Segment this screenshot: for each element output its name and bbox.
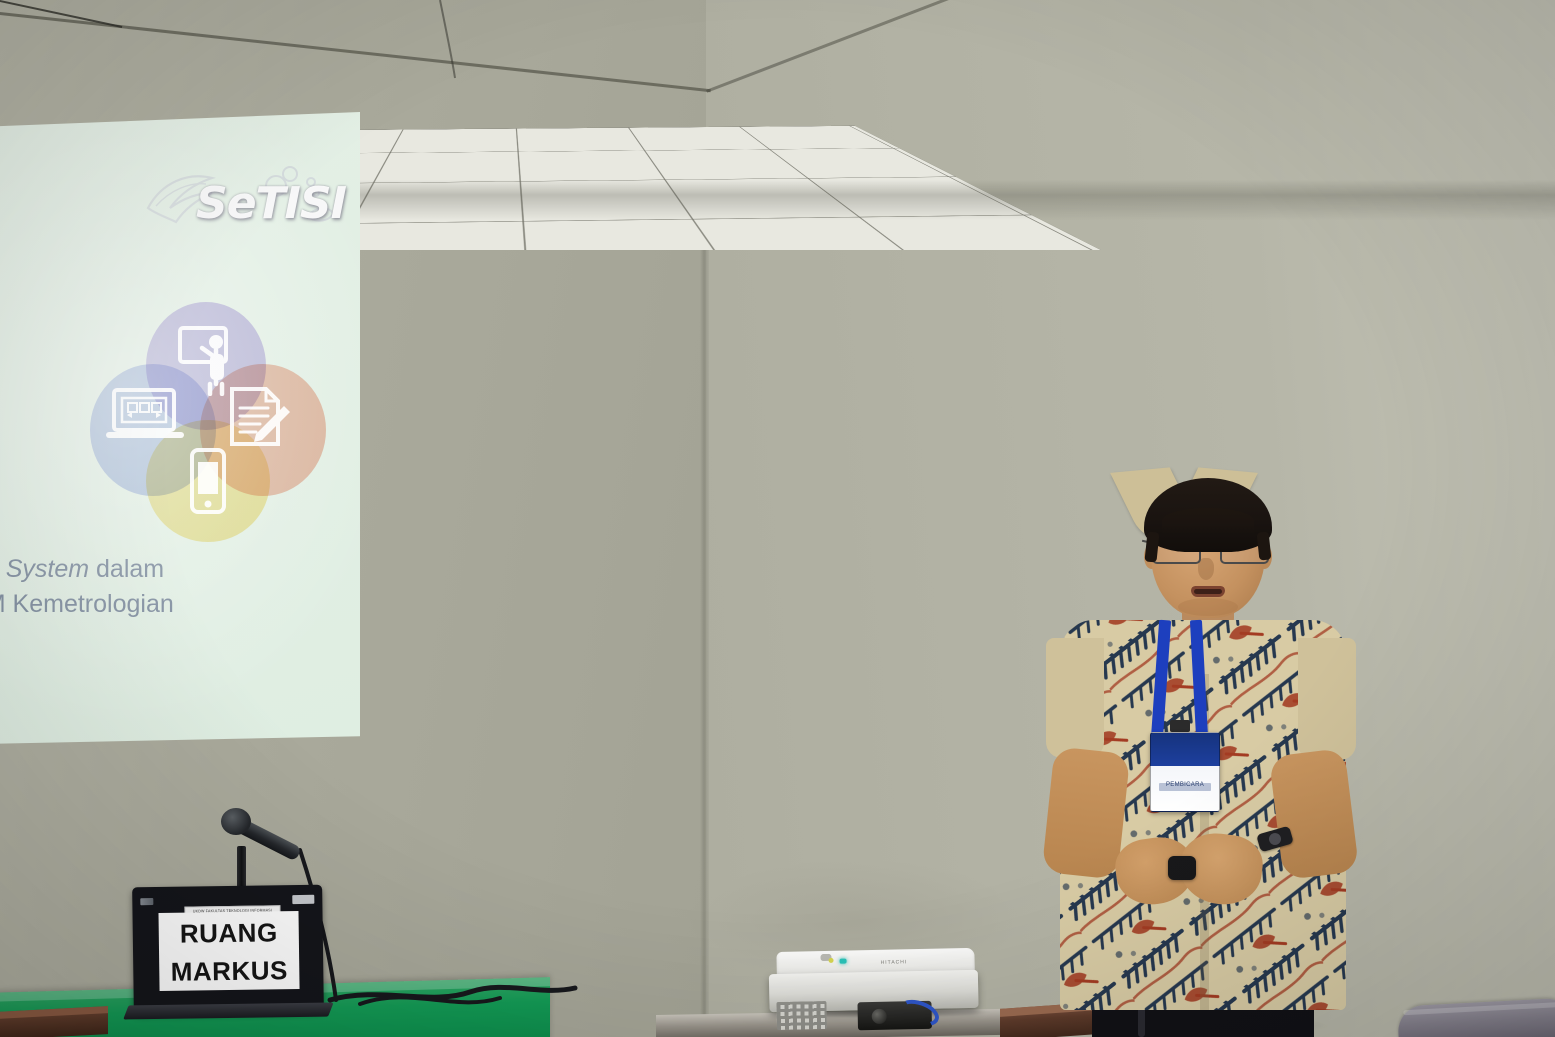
id-badge: PEMBICARA [1150,732,1220,812]
projector-lens [872,1009,887,1024]
room-name-line-1: RUANG [158,911,299,953]
presenter-remote[interactable] [1168,856,1196,880]
projector: HITACHI [768,948,978,1014]
presentation-photo-scene: SeTISI dcaststedelluminatewikiaudacityyo… [0,0,1555,1037]
logo-wordmark: SeTISI [196,178,346,229]
projector-brand-label: HITACHI [881,959,908,966]
chin [1178,598,1238,616]
slide-title-suffix: dalam [89,555,164,583]
microphone-head [221,808,251,835]
room-name-line-2: MARKUS [159,951,300,991]
wood-table-left [0,1006,108,1037]
slide-date: ha, 9 April 2015 [0,694,360,716]
laptop-logo-icon [140,898,153,905]
projected-slide: SeTISI dcaststedelluminatewikiaudacityyo… [0,112,360,747]
slide-wordcloud: dcaststedelluminatewikiaudacityyou-tuben… [0,302,82,532]
slide-title-line-1: an Blended Learning System dalam [0,552,360,587]
laptop-icon [106,388,184,444]
projector-power-led [829,958,834,963]
slide-title-block: an Blended Learning System dalam dar Kom… [0,552,360,716]
slide-circle-diagram [90,302,320,537]
slide-title-italic: Blended Learning System [0,555,89,583]
laptop-brand-badge [292,895,314,904]
laptop-base [123,1003,333,1020]
presenter-arm-right [1269,748,1360,880]
setisi-logo: SeTISI [140,160,335,255]
presenter: PEMBICARA [1030,470,1370,1037]
badge-clip [1170,720,1190,732]
slide-author: Febriantoro [0,665,360,687]
projector-status-led [840,959,847,964]
badge-name-text: PEMBICARA [1151,782,1219,788]
projector-vent [776,1001,827,1030]
slide-title-line-2: dar Kompetensi SDM Kemetrologian [0,587,360,622]
projector-body [769,970,979,1012]
shirt-sleeve-left [1046,638,1104,758]
document-pencil-icon [226,386,292,448]
shirt-sleeve-right [1298,638,1356,760]
laptop-screen: RUANG MARKUS [158,911,299,991]
mouth [1191,586,1225,597]
smartphone-icon [188,448,228,514]
laptop-lid: UKDW FAKULTAS TEKNOLOGI INFORMASI RUANG … [132,885,324,1014]
laptop[interactable]: UKDW FAKULTAS TEKNOLOGI INFORMASI RUANG … [132,885,324,1014]
